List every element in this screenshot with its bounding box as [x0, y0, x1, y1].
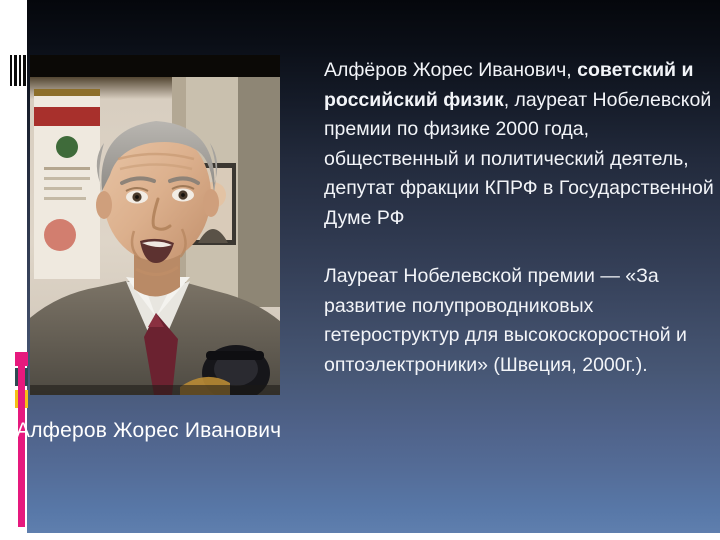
paragraph-lead: Алфёров Жорес Иванович,	[324, 59, 577, 81]
photo-caption: Алферов Жорес Иванович	[16, 418, 316, 444]
paragraph-biography: Алфёров Жорес Иванович, советский и росс…	[324, 56, 720, 233]
presentation-slide: Алферов Жорес Иванович Алфёров Жорес Ива…	[0, 0, 720, 540]
paragraph-nobel-prize: Лауреат Нобелевской премии — «За развити…	[324, 262, 720, 380]
stripe-bar	[19, 55, 21, 86]
slide-body-text: Алфёров Жорес Иванович, советский и росс…	[324, 56, 720, 380]
stripe-bar	[14, 55, 17, 86]
barcode-stripes-decoration	[9, 55, 27, 86]
stripe-bar	[10, 55, 12, 86]
portrait-photo	[30, 55, 280, 395]
bottom-margin-gutter	[0, 533, 720, 540]
stripe-bar	[23, 55, 26, 86]
